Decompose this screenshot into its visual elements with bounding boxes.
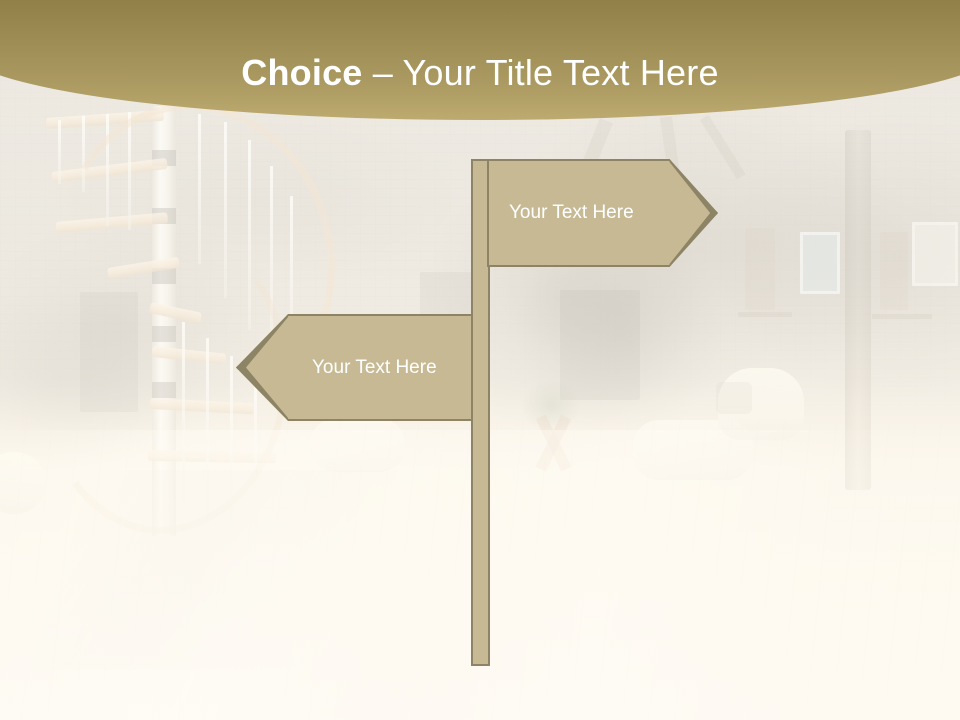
sign-left[interactable]: Your Text Here (236, 314, 473, 421)
page-title-strong: Choice (241, 52, 362, 93)
page-title: Choice – Your Title Text Here (0, 52, 960, 94)
sign-right[interactable]: Your Text Here (487, 159, 718, 267)
page-title-rest: – Your Title Text Here (363, 52, 719, 93)
sign-right-label: Your Text Here (509, 202, 634, 224)
sign-left-label: Your Text Here (312, 357, 437, 379)
slide-canvas: Choice – Your Title Text Here Your Text … (0, 0, 960, 720)
